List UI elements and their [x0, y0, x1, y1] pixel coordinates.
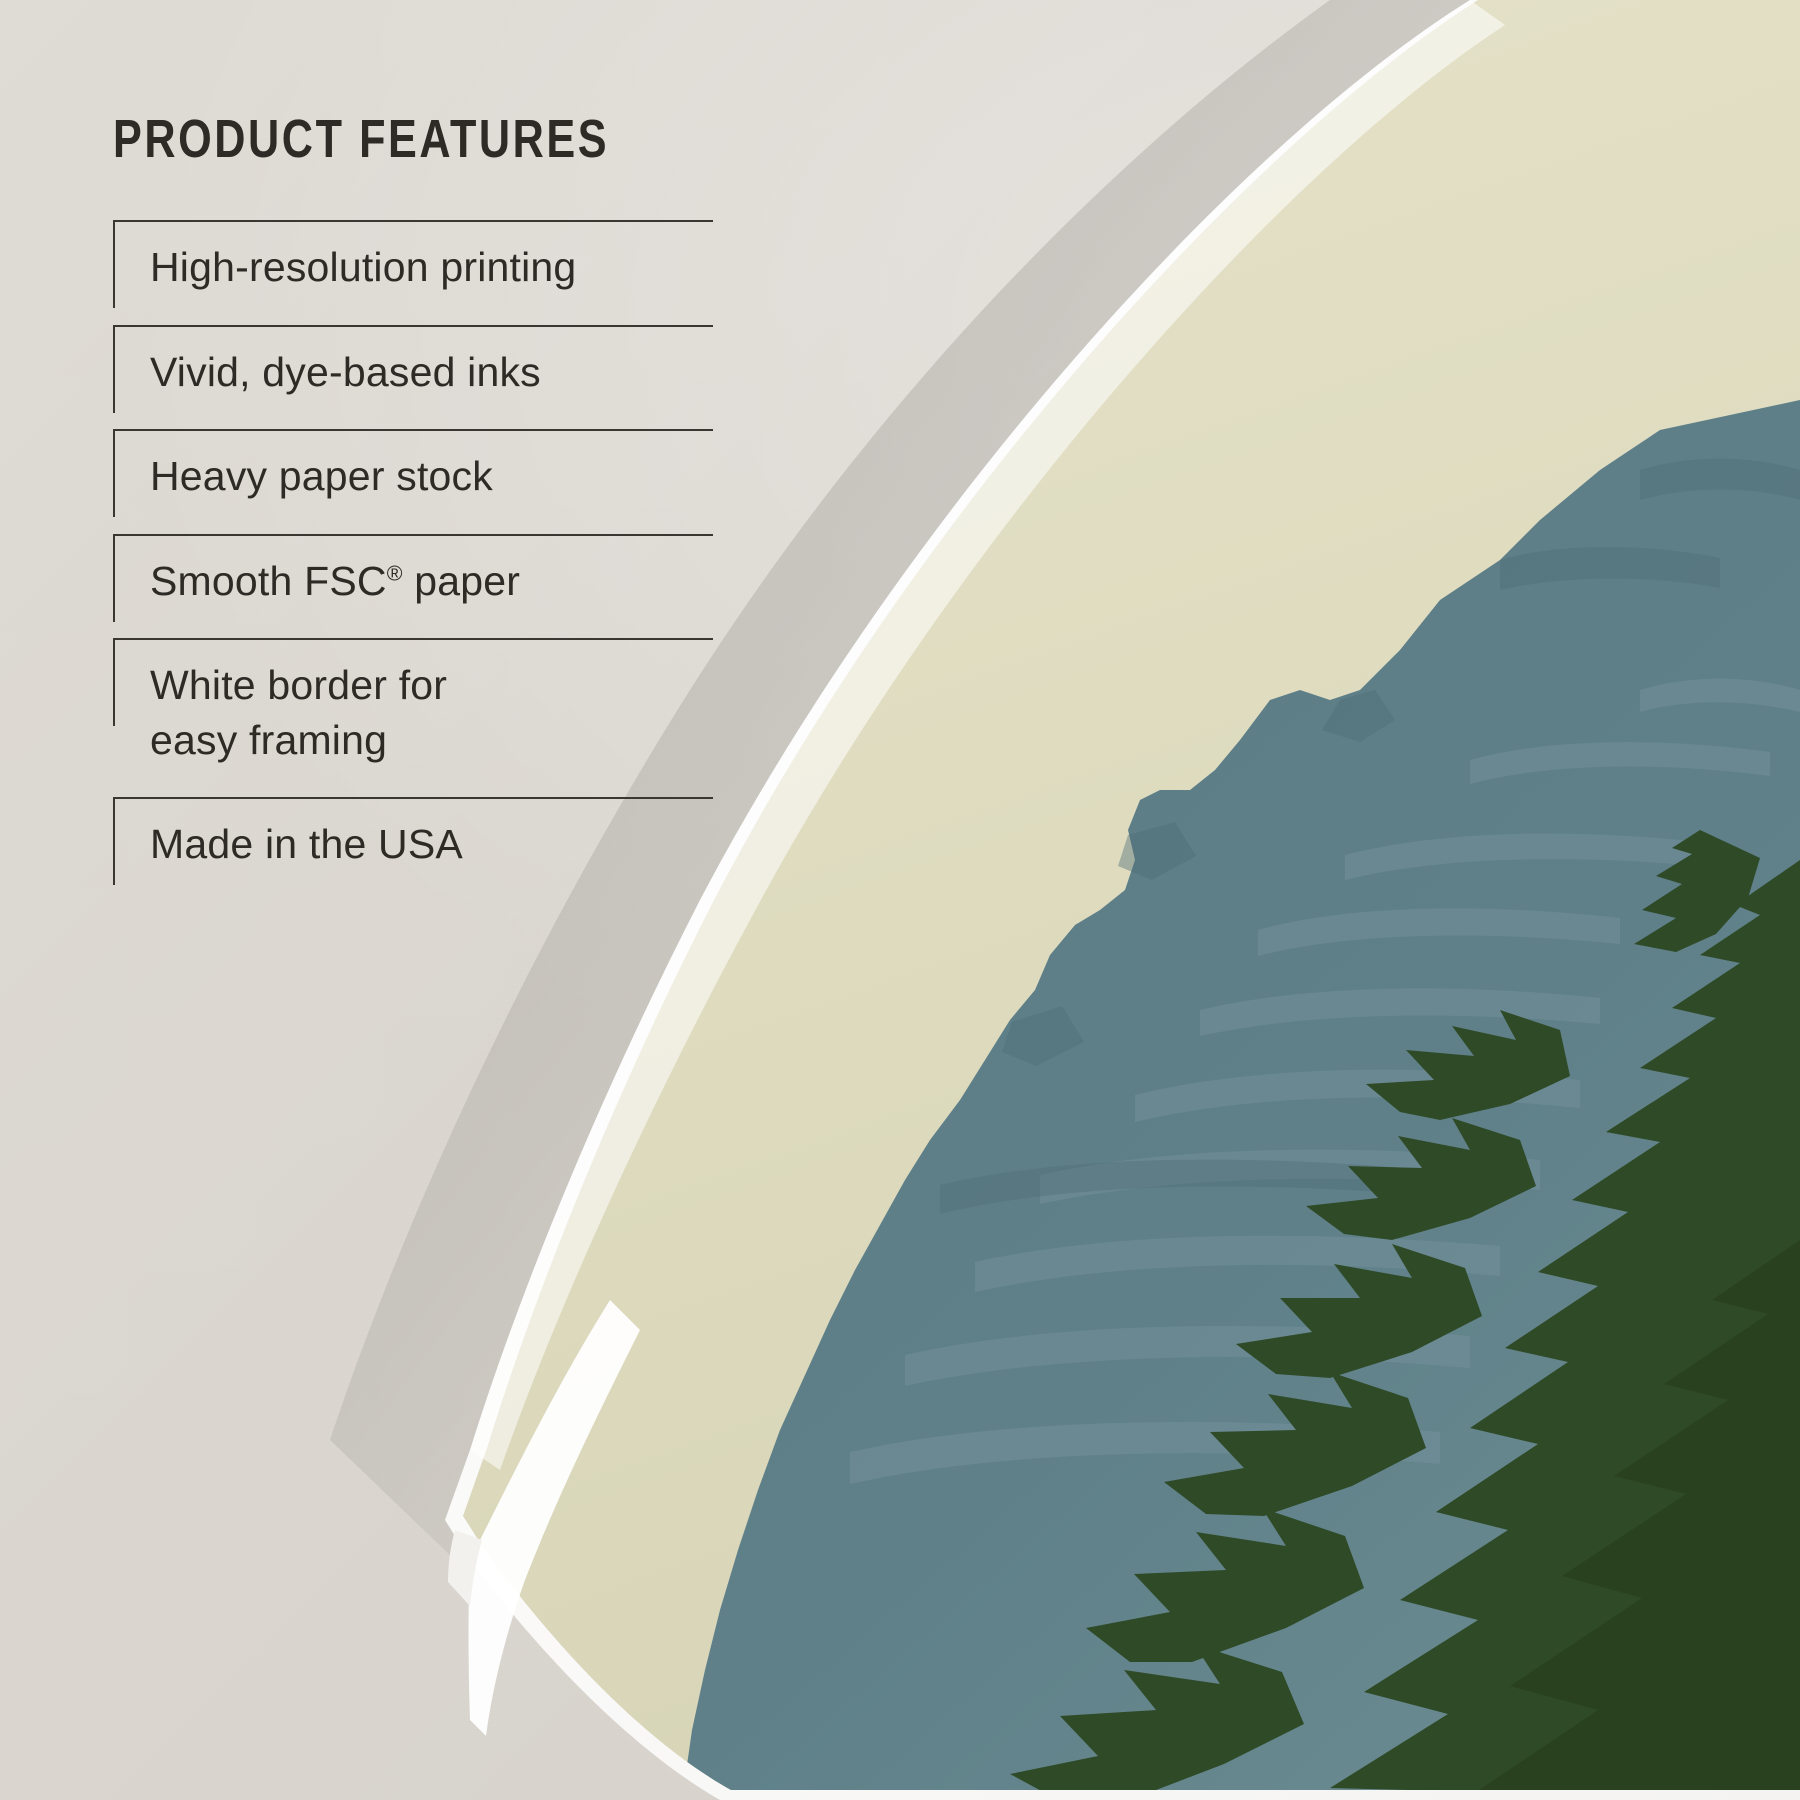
feature-label-line1: White border for	[150, 658, 713, 713]
list-item: Made in the USA	[113, 797, 713, 902]
product-features-panel: PRODUCT FEATURES High-resolution printin…	[113, 108, 713, 902]
page-title: PRODUCT FEATURES	[113, 108, 593, 170]
feature-label: High-resolution printing	[150, 240, 713, 295]
list-item: Heavy paper stock	[113, 429, 713, 534]
feature-label-line2: easy framing	[150, 713, 713, 768]
registered-trademark-mark: ®	[387, 561, 403, 585]
list-item: Smooth FSC® paper	[113, 534, 713, 639]
feature-label: Made in the USA	[150, 817, 713, 872]
list-item: White border for easy framing	[113, 638, 713, 797]
list-item: Vivid, dye-based inks	[113, 325, 713, 430]
feature-label: Vivid, dye-based inks	[150, 345, 713, 400]
feature-label: Heavy paper stock	[150, 449, 713, 504]
list-item: High-resolution printing	[113, 220, 713, 325]
feature-label: Smooth FSC® paper	[150, 554, 713, 609]
feature-label-prefix: Smooth FSC	[150, 558, 387, 604]
feature-label-suffix: paper	[403, 558, 520, 604]
feature-list: High-resolution printing Vivid, dye-base…	[113, 220, 713, 902]
product-features-graphic: PRODUCT FEATURES High-resolution printin…	[0, 0, 1800, 1800]
